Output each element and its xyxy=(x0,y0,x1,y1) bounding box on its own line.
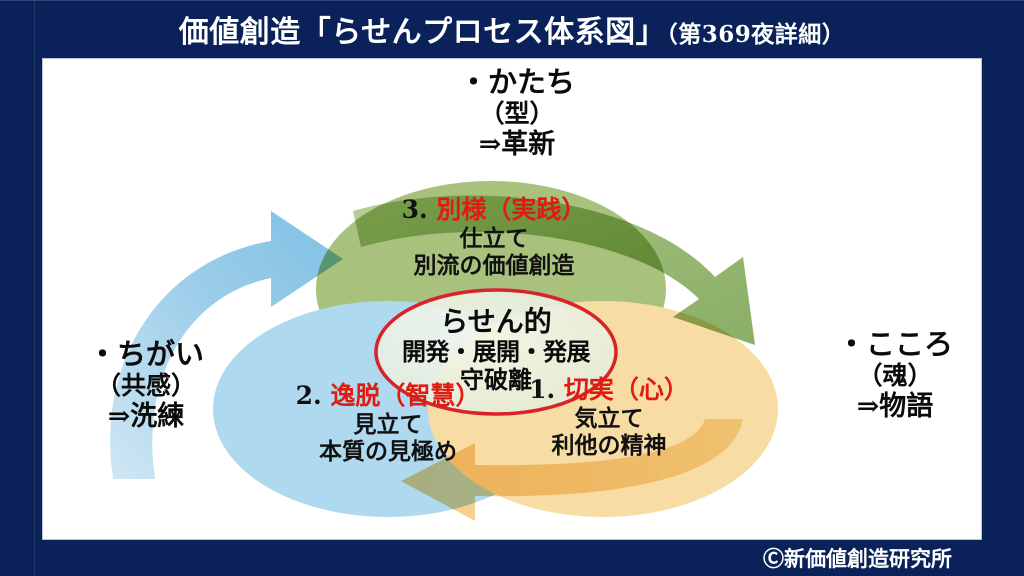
frame-seam-left xyxy=(34,0,35,576)
outer-label-top: ・かたち （型） ⇒革新 xyxy=(387,65,647,161)
node-label-green: 3. 別様（実践） 仕立て 別流の価値創造 xyxy=(361,195,627,279)
outer-label-left: ・ちがい （共感） ⇒洗練 xyxy=(51,337,241,433)
node-orange-sub2: 利他の精神 xyxy=(487,432,731,459)
outer-label-left-line3: ⇒洗練 xyxy=(51,401,241,433)
outer-label-right-line2: （魂） xyxy=(805,361,982,391)
outer-label-top-line2: （型） xyxy=(387,99,647,129)
core-line3: 守破離 xyxy=(376,366,616,394)
core-label: らせん的 開発・展開・発展 守破離 xyxy=(376,305,616,395)
core-line2: 開発・展開・発展 xyxy=(376,338,616,366)
copyright-text: Ⓒ新価値創造研究所 xyxy=(763,543,952,573)
outer-label-right-line3: ⇒物語 xyxy=(805,391,982,423)
node-blue-sub1: 見立て xyxy=(249,411,527,438)
footer-bar: Ⓒ新価値創造研究所 xyxy=(0,540,1024,576)
slide-root: 価値創造「らせんプロセス体系図」（第369夜詳細） xyxy=(0,0,1024,576)
diagram-panel: ・かたち （型） ⇒革新 ・ちがい （共感） ⇒洗練 ・こころ （魂） ⇒物語 … xyxy=(42,58,982,540)
node-green-name: 別様（実践） xyxy=(436,195,586,224)
node-blue-sub2: 本質の見極め xyxy=(249,438,527,465)
core-line1: らせん的 xyxy=(376,305,616,338)
outer-label-right: ・こころ （魂） ⇒物語 xyxy=(805,327,982,423)
outer-label-left-line1: ・ちがい xyxy=(51,337,241,371)
title-main: 価値創造「らせんプロセス体系図」 xyxy=(179,15,666,50)
outer-label-left-line2: （共感） xyxy=(51,371,241,401)
node-green-number: 3. xyxy=(402,195,428,224)
node-blue-number: 2. xyxy=(296,381,322,410)
title-paren: （第369夜詳細） xyxy=(666,21,845,48)
title-bar: 価値創造「らせんプロセス体系図」（第369夜詳細） xyxy=(0,0,1024,58)
outer-label-top-line1: ・かたち xyxy=(387,65,647,99)
node-green-sub1: 仕立て xyxy=(361,225,627,252)
node-orange-sub1: 気立て xyxy=(487,405,731,432)
node-green-sub2: 別流の価値創造 xyxy=(361,252,627,279)
node-green-heading: 3. 別様（実践） xyxy=(361,195,627,225)
outer-label-right-line1: ・こころ xyxy=(805,327,982,361)
page-title: 価値創造「らせんプロセス体系図」（第369夜詳細） xyxy=(179,7,845,51)
outer-label-top-line3: ⇒革新 xyxy=(387,129,647,161)
